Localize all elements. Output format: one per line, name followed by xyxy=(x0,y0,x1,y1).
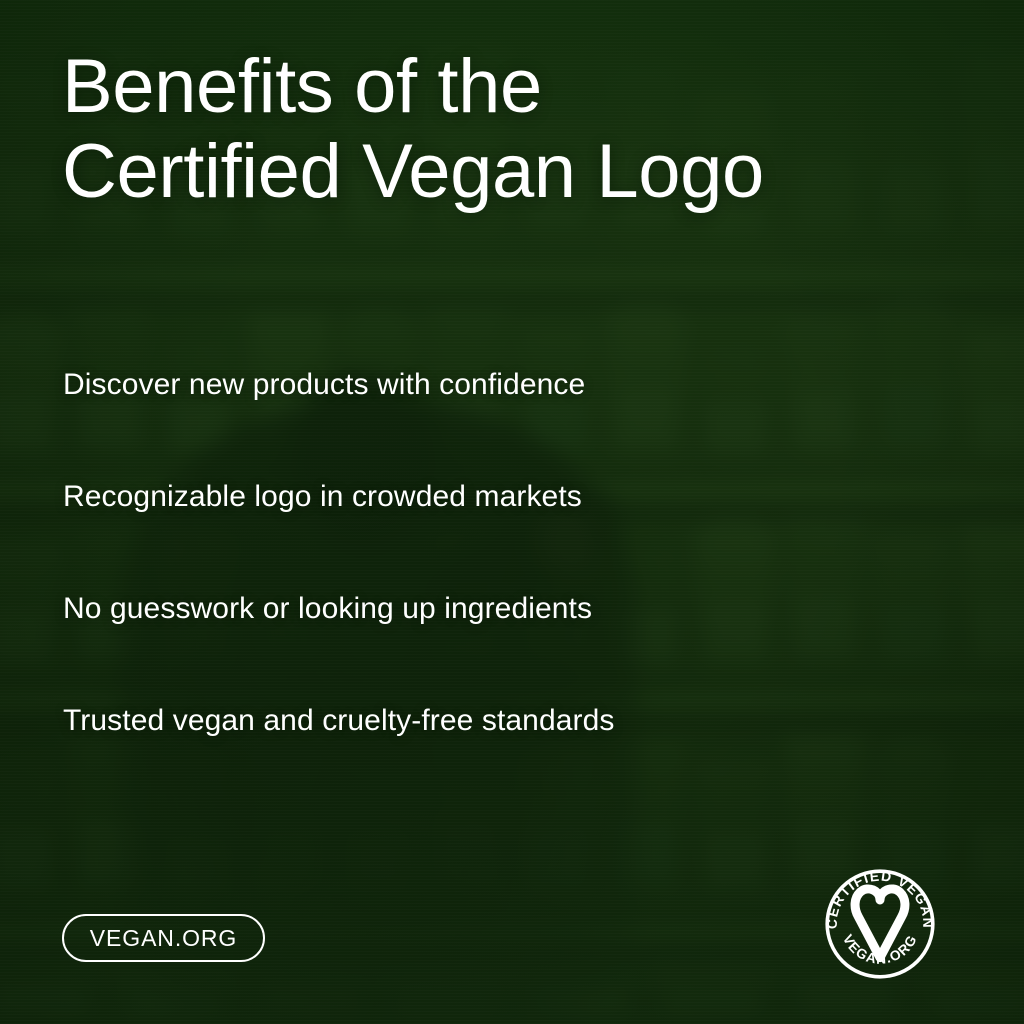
benefit-item-3: No guesswork or looking up ingredients xyxy=(63,588,923,700)
benefit-item-1: Discover new products with confidence xyxy=(63,364,923,476)
poster-content: Benefits of the Certified Vegan Logo Dis… xyxy=(0,0,1024,1024)
certified-vegan-seal-icon: CERTIFIED VEGAN VEGAN.ORG xyxy=(820,864,940,984)
page-title: Benefits of the Certified Vegan Logo xyxy=(62,44,842,214)
benefit-item-4: Trusted vegan and cruelty-free standards xyxy=(63,700,923,812)
benefit-item-2: Recognizable logo in crowded markets xyxy=(63,476,923,588)
benefits-list: Discover new products with confidence Re… xyxy=(63,364,923,812)
vegan-org-button[interactable]: VEGAN.ORG xyxy=(62,914,265,962)
vegan-org-button-label: VEGAN.ORG xyxy=(90,925,237,952)
poster: Benefits of the Certified Vegan Logo Dis… xyxy=(0,0,1024,1024)
